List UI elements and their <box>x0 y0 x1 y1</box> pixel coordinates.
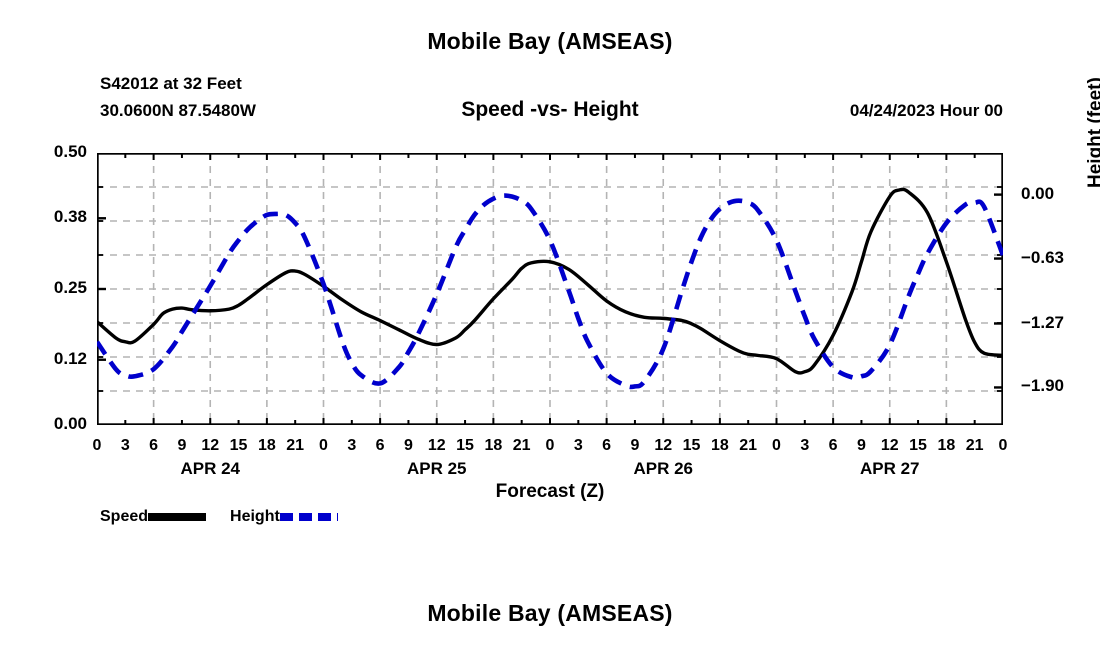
x-axis-tick-label: 0 <box>82 437 112 455</box>
x-axis-tick-label: 6 <box>592 437 622 455</box>
x-axis-tick-label: 9 <box>167 437 197 455</box>
x-axis-tick-label: 15 <box>224 437 254 455</box>
x-axis-tick-label: 6 <box>139 437 169 455</box>
y-axis-left-tick-label: 0.12 <box>27 349 87 369</box>
x-axis-tick-label: 15 <box>677 437 707 455</box>
y-axis-right-tick-label: 0.00 <box>1021 184 1091 204</box>
x-axis-tick-label: 15 <box>903 437 933 455</box>
x-axis-tick-label: 9 <box>393 437 423 455</box>
y-axis-right-tick-label: −1.27 <box>1021 313 1091 333</box>
x-axis-tick-label: 21 <box>280 437 310 455</box>
x-axis-tick-label: 18 <box>705 437 735 455</box>
x-axis-tick-label: 21 <box>733 437 763 455</box>
y-axis-left-tick-label: 0.25 <box>27 278 87 298</box>
x-axis-tick-label: 9 <box>620 437 650 455</box>
x-axis-tick-label: 0 <box>762 437 792 455</box>
x-axis-day-label: APR 25 <box>367 459 507 479</box>
y-axis-right-tick-label: −0.63 <box>1021 248 1091 268</box>
legend-label-height: Height <box>230 508 280 526</box>
x-axis-day-label: APR 26 <box>593 459 733 479</box>
x-axis-tick-label: 0 <box>988 437 1018 455</box>
y-axis-left-tick-label: 0.50 <box>27 142 87 162</box>
legend-swatch-speed <box>148 513 206 521</box>
x-axis-tick-label: 3 <box>110 437 140 455</box>
x-axis-label: Forecast (Z) <box>0 481 1100 503</box>
chart-page: Mobile Bay (AMSEAS) S42012 at 32 Feet 30… <box>0 0 1100 650</box>
station-id-label: S42012 at 32 Feet <box>100 74 242 94</box>
x-axis-tick-label: 0 <box>309 437 339 455</box>
x-axis-tick-label: 12 <box>422 437 452 455</box>
model-run-label: 04/24/2023 Hour 00 <box>850 101 1003 121</box>
x-axis-tick-label: 12 <box>875 437 905 455</box>
chart-canvas <box>97 153 1003 425</box>
x-axis-tick-label: 21 <box>960 437 990 455</box>
y-axis-right-label: Height (feet) <box>1085 0 1100 188</box>
page-footer-title: Mobile Bay (AMSEAS) <box>0 600 1100 627</box>
x-axis-tick-label: 18 <box>252 437 282 455</box>
x-axis-tick-label: 3 <box>337 437 367 455</box>
x-axis-tick-label: 12 <box>195 437 225 455</box>
x-axis-tick-label: 18 <box>478 437 508 455</box>
y-axis-left-tick-label: 0.38 <box>27 207 87 227</box>
x-axis-day-label: APR 24 <box>140 459 280 479</box>
x-axis-tick-label: 0 <box>535 437 565 455</box>
x-axis-tick-label: 18 <box>931 437 961 455</box>
x-axis-tick-label: 3 <box>563 437 593 455</box>
x-axis-tick-label: 6 <box>365 437 395 455</box>
plot-area <box>97 153 1003 425</box>
x-axis-tick-label: 9 <box>846 437 876 455</box>
legend-swatch-height <box>280 513 338 521</box>
legend-label-speed: Speed <box>100 508 148 526</box>
page-title: Mobile Bay (AMSEAS) <box>0 28 1100 55</box>
x-axis-tick-label: 15 <box>450 437 480 455</box>
chart-legend: Speed Height <box>100 508 362 526</box>
x-axis-tick-label: 12 <box>648 437 678 455</box>
x-axis-day-label: APR 27 <box>820 459 960 479</box>
x-axis-tick-label: 3 <box>790 437 820 455</box>
x-axis-tick-label: 21 <box>507 437 537 455</box>
x-axis-tick-label: 6 <box>818 437 848 455</box>
y-axis-left-tick-label: 0.00 <box>27 414 87 434</box>
y-axis-right-tick-label: −1.90 <box>1021 376 1091 396</box>
